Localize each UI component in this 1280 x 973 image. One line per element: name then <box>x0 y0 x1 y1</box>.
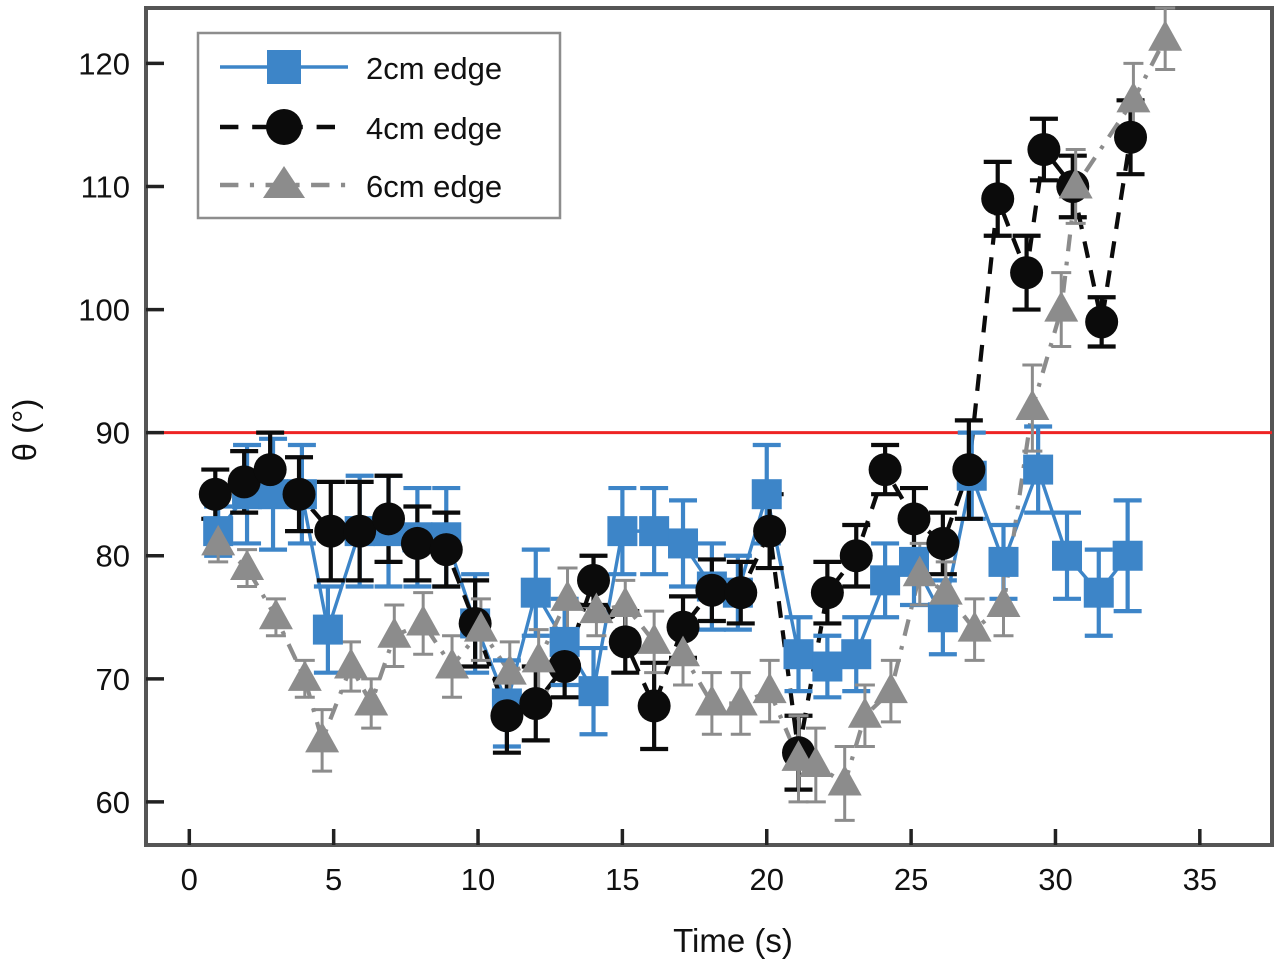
data-point-marker <box>519 687 552 720</box>
data-point-marker <box>869 453 902 486</box>
y-tick-label: 90 <box>96 416 130 451</box>
data-point-marker <box>926 527 959 560</box>
data-point-marker <box>430 533 463 566</box>
data-point-marker <box>784 639 814 669</box>
data-point-marker <box>1052 541 1082 571</box>
data-point-marker <box>639 516 669 546</box>
data-point-marker <box>314 515 347 548</box>
data-point-marker <box>870 565 900 595</box>
data-point-marker <box>840 539 873 572</box>
x-tick-label: 35 <box>1183 862 1217 897</box>
data-point-marker <box>283 478 316 511</box>
chart-legend: 2cm edge4cm edge6cm edge <box>198 33 560 218</box>
legend-label: 4cm edge <box>366 111 502 146</box>
data-point-marker <box>1027 133 1060 166</box>
data-point-marker <box>254 453 287 486</box>
legend-label: 6cm edge <box>366 169 502 204</box>
data-point-marker <box>490 699 523 732</box>
data-point-marker <box>1023 455 1053 485</box>
theta-vs-time-chart: 05101520253035 60708090100110120 2cm edg… <box>0 0 1280 973</box>
chart-background <box>0 0 1280 973</box>
x-tick-label: 0 <box>181 862 198 897</box>
x-axis-title: Time (s) <box>673 922 793 959</box>
data-point-marker <box>548 650 581 683</box>
x-tick-label: 25 <box>894 862 928 897</box>
data-point-marker <box>1010 256 1043 289</box>
data-point-marker <box>609 625 642 658</box>
y-tick-label: 110 <box>81 169 130 204</box>
x-tick-label: 5 <box>325 862 342 897</box>
data-point-marker <box>1114 121 1147 154</box>
chart-figure: 05101520253035 60708090100110120 2cm edg… <box>0 0 1280 973</box>
legend-square-marker <box>267 50 301 84</box>
data-point-marker <box>981 182 1014 215</box>
y-tick-label: 100 <box>78 293 130 328</box>
data-point-marker <box>579 676 609 706</box>
data-point-marker <box>753 515 786 548</box>
data-point-marker <box>811 576 844 609</box>
legend-label: 2cm edge <box>366 51 502 86</box>
data-point-marker <box>607 516 637 546</box>
data-point-marker <box>897 502 930 535</box>
y-tick-label: 70 <box>96 662 130 697</box>
data-point-marker <box>1113 541 1143 571</box>
data-point-marker <box>812 652 842 682</box>
x-tick-label: 20 <box>750 862 784 897</box>
data-point-marker <box>1084 578 1114 608</box>
data-point-marker <box>199 478 232 511</box>
data-point-marker <box>521 578 551 608</box>
data-point-marker <box>841 639 871 669</box>
y-axis-title: θ (°) <box>6 399 43 462</box>
y-tick-label: 80 <box>96 539 130 574</box>
data-point-marker <box>638 689 671 722</box>
x-tick-label: 15 <box>605 862 639 897</box>
y-tick-label: 120 <box>78 46 130 81</box>
data-point-marker <box>401 527 434 560</box>
data-point-marker <box>343 515 376 548</box>
data-point-marker <box>988 547 1018 577</box>
data-point-marker <box>695 574 728 607</box>
data-point-marker <box>724 576 757 609</box>
data-point-marker <box>952 453 985 486</box>
x-tick-label: 30 <box>1038 862 1072 897</box>
data-point-marker <box>577 564 610 597</box>
y-tick-label: 60 <box>96 785 130 820</box>
data-point-marker <box>752 479 782 509</box>
data-point-marker <box>668 528 698 558</box>
x-tick-label: 10 <box>461 862 495 897</box>
data-point-marker <box>928 602 958 632</box>
legend-circle-marker <box>266 109 302 145</box>
data-point-marker <box>1085 305 1118 338</box>
data-point-marker <box>372 502 405 535</box>
data-point-marker <box>313 615 343 645</box>
